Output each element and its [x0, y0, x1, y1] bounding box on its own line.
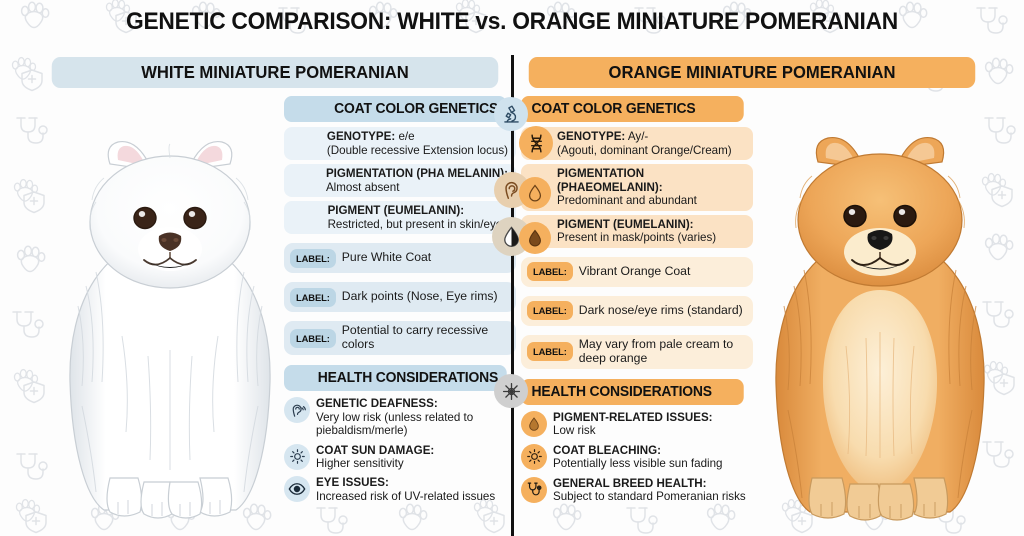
right-health-label: PIGMENT-RELATED ISSUES: — [553, 411, 713, 424]
page-title-text: GENETIC COMPARISON: WHITE vs. ORANGE MIN… — [126, 8, 898, 35]
left-label-row: LABEL: Pure White Coat — [284, 243, 516, 273]
right-health-desc: Subject to standard Pomeranian risks — [553, 490, 746, 503]
left-health-label: EYE ISSUES: — [316, 476, 389, 489]
left-health-text: COAT SUN DAMAGE: Higher sensitivity — [316, 443, 434, 471]
left-health-item: COAT SUN DAMAGE: Higher sensitivity — [284, 443, 516, 471]
right-label-badge: LABEL: — [527, 262, 573, 281]
left-health-item: GENETIC DEAFNESS: Very low risk (unless … — [284, 396, 516, 437]
left-fact-text: GENOTYPE: e/e (Double recessive Extensio… — [327, 130, 508, 157]
right-health-desc: Low risk — [553, 424, 596, 437]
left-fact-label: PIGMENT (EUMELANIN): — [328, 204, 465, 217]
left-fact-label: GENOTYPE: — [327, 130, 395, 143]
right-label-badge: LABEL: — [527, 342, 573, 361]
right-label-text: May vary from pale cream to deep orange — [579, 338, 747, 366]
left-fact-row: PIGMENT (EUMELANIN): Restricted, but pre… — [284, 201, 516, 234]
left-health-label: GENETIC DEAFNESS: — [316, 397, 438, 410]
left-label-text: Pure White Coat — [342, 251, 431, 265]
eye-icon — [284, 476, 310, 502]
left-fact-label: PIGMENTATION (PHA MELANIN): — [326, 167, 508, 180]
right-label-row: LABEL: Dark nose/eye rims (standard) — [521, 296, 753, 326]
right-fact-text: PIGMENT (EUMELANIN): Present in mask/poi… — [557, 218, 716, 245]
left-label-row: LABEL: Dark points (Nose, Eye rims) — [284, 282, 516, 312]
left-label-text: Dark points (Nose, Eye rims) — [342, 290, 498, 304]
left-health-item: EYE ISSUES: Increased risk of UV-related… — [284, 475, 516, 503]
stethoscope-icon — [521, 477, 547, 503]
page-title: GENETIC COMPARISON: WHITE vs. ORANGE MIN… — [36, 8, 988, 36]
right-fact-value: Ay/- — [625, 130, 648, 143]
left-column-header-label: WHITE MINIATURE POMERANIAN — [141, 62, 409, 83]
left-fact-row: GENOTYPE: e/e (Double recessive Extensio… — [284, 127, 516, 160]
sun-icon — [521, 444, 547, 470]
droplet-brown-icon — [519, 222, 551, 254]
left-fact-detail: Restricted, but present in skin/eyes — [328, 218, 508, 231]
right-genetics-section-title: COAT COLOR GENETICS — [532, 101, 696, 117]
infographic-root: GENETIC COMPARISON: WHITE vs. ORANGE MIN… — [0, 0, 1024, 536]
left-label-badge: LABEL: — [290, 249, 336, 268]
right-column: COAT COLOR GENETICS GENOTYPE: Ay/- (Agou… — [521, 96, 753, 503]
right-fact-row: PIGMENTATION (PHAEOMELANIN): Predominant… — [521, 164, 753, 211]
left-column: COAT COLOR GENETICS GENOTYPE: e/e (Doubl… — [284, 96, 516, 503]
right-health-text: PIGMENT-RELATED ISSUES: Low risk — [553, 410, 713, 438]
right-health-section-title: HEALTH CONSIDERATIONS — [532, 384, 712, 400]
right-label-text: Vibrant Orange Coat — [579, 265, 691, 279]
right-column-header: ORANGE MINIATURE POMERANIAN — [529, 57, 976, 88]
right-fact-detail: Present in mask/points (varies) — [557, 231, 716, 244]
right-health-desc: Potentially less visible sun fading — [553, 457, 723, 470]
left-health-text: EYE ISSUES: Increased risk of UV-related… — [316, 475, 495, 503]
droplet-outline-icon — [519, 177, 551, 209]
left-fact-detail: (Double recessive Extension locus) — [327, 144, 508, 157]
sun-icon — [284, 444, 310, 470]
right-fact-text: PIGMENTATION (PHAEOMELANIN): Predominant… — [557, 167, 745, 208]
left-health-desc: Increased risk of UV-related issues — [316, 490, 495, 503]
ear-hearing-icon — [284, 397, 310, 423]
dna-icon — [519, 126, 553, 160]
left-fact-value: e/e — [395, 130, 414, 143]
left-health-section-title: HEALTH CONSIDERATIONS — [318, 370, 498, 386]
left-health-desc: Very low risk (unless related to piebald… — [316, 411, 473, 437]
right-health-label: GENERAL BREED HEALTH: — [553, 477, 707, 490]
right-label-text: Dark nose/eye rims (standard) — [579, 304, 743, 318]
microscope-icon — [494, 97, 528, 131]
right-health-item: COAT BLEACHING: Potentially less visible… — [521, 443, 753, 471]
right-genetics-section-header: COAT COLOR GENETICS — [521, 96, 744, 122]
left-label-row: LABEL: Potential to carry recessive colo… — [284, 321, 516, 355]
left-fact-row: PIGMENTATION (PHA MELANIN): Almost absen… — [284, 164, 516, 197]
right-health-text: GENERAL BREED HEALTH: Subject to standar… — [553, 476, 746, 504]
right-fact-label: PIGMENTATION (PHAEOMELANIN): — [557, 167, 663, 194]
left-label-badge: LABEL: — [290, 288, 336, 307]
orange-pomeranian-image — [756, 106, 1004, 530]
droplet-icon — [521, 411, 547, 437]
right-fact-detail: Predominant and abundant — [557, 194, 697, 207]
right-fact-row: GENOTYPE: Ay/- (Agouti, dominant Orange/… — [521, 127, 753, 160]
left-genetics-section-title: COAT COLOR GENETICS — [334, 101, 498, 117]
right-column-header-label: ORANGE MINIATURE POMERANIAN — [609, 62, 896, 83]
left-fact-detail: Almost absent — [326, 181, 399, 194]
right-label-badge: LABEL: — [527, 301, 573, 320]
left-health-label: COAT SUN DAMAGE: — [316, 444, 434, 457]
left-genetics-section-header: COAT COLOR GENETICS — [284, 96, 507, 122]
right-label-row: LABEL: May vary from pale cream to deep … — [521, 335, 753, 369]
white-pomeranian-image — [52, 106, 288, 530]
right-fact-text: GENOTYPE: Ay/- (Agouti, dominant Orange/… — [557, 130, 732, 157]
left-health-section-header: HEALTH CONSIDERATIONS — [284, 365, 507, 391]
left-fact-text: PIGMENT (EUMELANIN): Restricted, but pre… — [328, 204, 508, 231]
right-health-section-header: HEALTH CONSIDERATIONS — [521, 379, 744, 405]
right-fact-row: PIGMENT (EUMELANIN): Present in mask/poi… — [521, 215, 753, 248]
left-health-desc: Higher sensitivity — [316, 457, 404, 470]
left-label-badge: LABEL: — [290, 329, 336, 348]
right-health-text: COAT BLEACHING: Potentially less visible… — [553, 443, 723, 471]
right-health-item: GENERAL BREED HEALTH: Subject to standar… — [521, 476, 753, 504]
right-fact-label: GENOTYPE: — [557, 130, 625, 143]
right-health-label: COAT BLEACHING: — [553, 444, 661, 457]
left-label-text: Potential to carry recessive colors — [342, 324, 510, 352]
right-label-row: LABEL: Vibrant Orange Coat — [521, 257, 753, 287]
right-fact-detail: (Agouti, dominant Orange/Cream) — [557, 144, 732, 157]
right-fact-label: PIGMENT (EUMELANIN): — [557, 218, 694, 231]
right-health-item: PIGMENT-RELATED ISSUES: Low risk — [521, 410, 753, 438]
left-fact-text: PIGMENTATION (PHA MELANIN): Almost absen… — [326, 167, 508, 194]
sun-health-icon — [494, 374, 528, 408]
left-column-header: WHITE MINIATURE POMERANIAN — [52, 57, 499, 88]
left-health-text: GENETIC DEAFNESS: Very low risk (unless … — [316, 396, 516, 437]
